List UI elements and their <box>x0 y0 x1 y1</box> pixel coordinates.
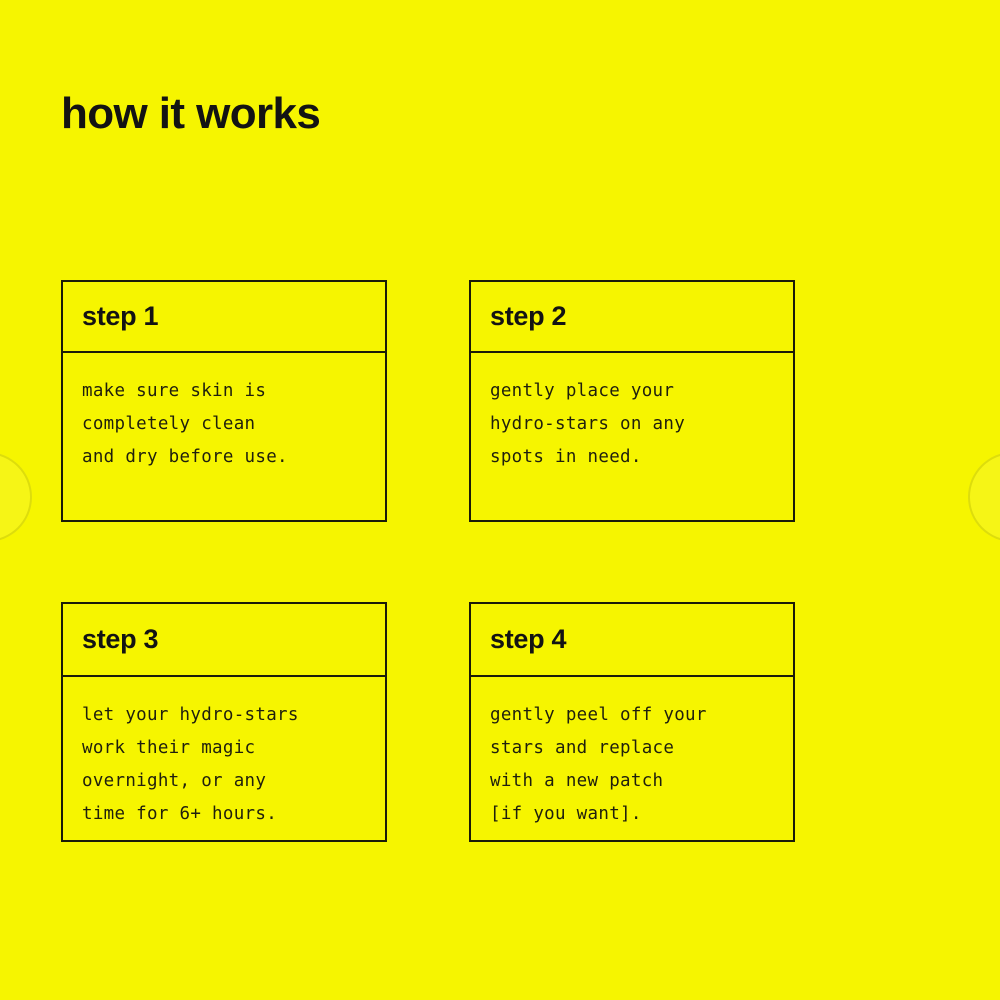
step-card-3-header: step 3 <box>63 604 385 677</box>
step-card-1: step 1 make sure skin is completely clea… <box>61 280 387 522</box>
step-card-3-text: let your hydro-stars work their magic ov… <box>82 699 373 831</box>
carousel-previous-arc-icon[interactable] <box>0 452 32 542</box>
step-card-4-header: step 4 <box>471 604 793 677</box>
carousel-next-arc-icon[interactable] <box>968 452 1000 542</box>
step-card-2-title: step 2 <box>490 301 566 332</box>
step-card-4-text: gently peel off your stars and replace w… <box>490 699 781 831</box>
step-card-1-body: make sure skin is completely clean and d… <box>63 353 385 474</box>
step-card-1-header: step 1 <box>63 282 385 353</box>
step-card-3-title: step 3 <box>82 624 158 655</box>
page-title: how it works <box>61 90 320 138</box>
step-card-2: step 2 gently place your hydro-stars on … <box>469 280 795 522</box>
step-card-1-text: make sure skin is completely clean and d… <box>82 375 373 474</box>
how-it-works-page: how it works step 1 make sure skin is co… <box>0 0 1000 1000</box>
step-card-4: step 4 gently peel off your stars and re… <box>469 602 795 842</box>
step-card-3-body: let your hydro-stars work their magic ov… <box>63 677 385 831</box>
step-card-2-body: gently place your hydro-stars on any spo… <box>471 353 793 474</box>
step-card-2-text: gently place your hydro-stars on any spo… <box>490 375 781 474</box>
step-card-1-title: step 1 <box>82 301 158 332</box>
step-card-3: step 3 let your hydro-stars work their m… <box>61 602 387 842</box>
step-card-4-body: gently peel off your stars and replace w… <box>471 677 793 831</box>
step-card-4-title: step 4 <box>490 624 566 655</box>
step-card-2-header: step 2 <box>471 282 793 353</box>
